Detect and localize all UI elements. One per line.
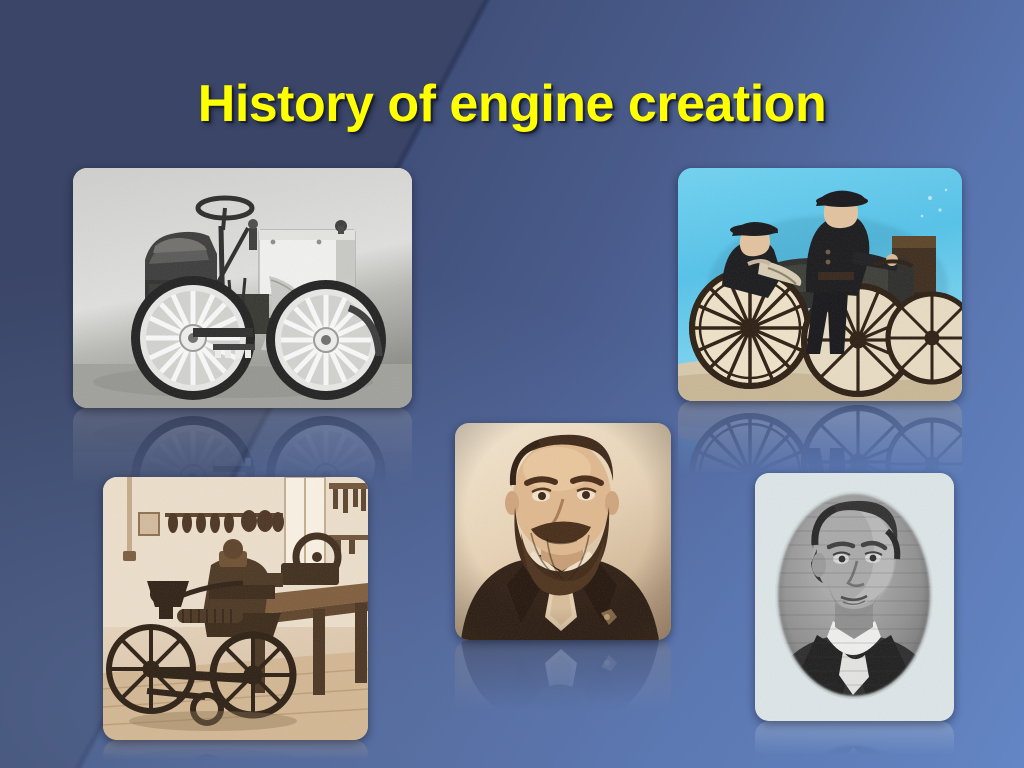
vintage-automobile-photo[interactable]: [73, 168, 412, 408]
engine-workshop-reflection: [103, 740, 368, 768]
motorized-carriage-photo[interactable]: [678, 168, 962, 401]
engine-workshop-photo[interactable]: [103, 477, 368, 740]
bearded-inventor-portrait[interactable]: [455, 423, 671, 640]
presentation-slide: History of engine creation: [0, 0, 1024, 768]
engraved-inventor-reflection: [755, 721, 954, 768]
slide-title: History of engine creation: [0, 74, 1024, 134]
engraved-inventor-portrait[interactable]: [755, 473, 954, 721]
bearded-inventor-reflection: [455, 640, 671, 738]
